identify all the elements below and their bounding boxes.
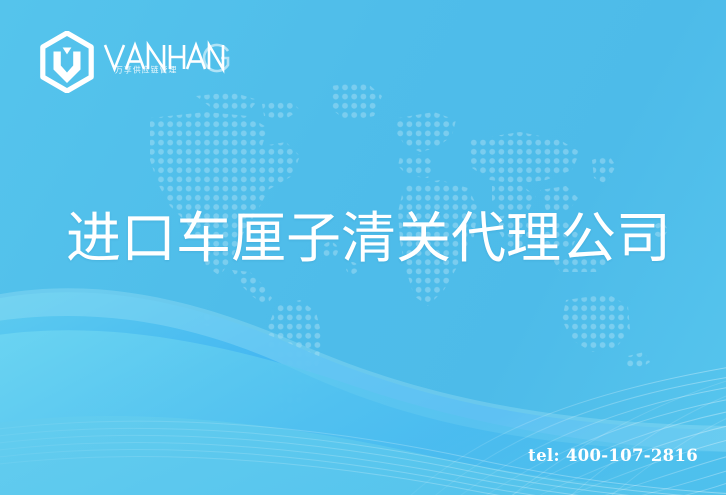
contact-phone[interactable]: tel: 400-107-2816 [528,446,698,465]
hexagon-logo-icon [38,31,96,93]
logo-text-block: 万享供应链管理 [102,34,230,90]
logo-subtitle: 万享供应链管理 [115,64,177,76]
promo-banner: 万享供应链管理 进口车厘子清关代理公司 tel: 400-107-2816 [0,0,726,495]
headline-title: 进口车厘子清关代理公司 [66,206,671,270]
brand-logo[interactable]: 万享供应链管理 [38,30,230,94]
